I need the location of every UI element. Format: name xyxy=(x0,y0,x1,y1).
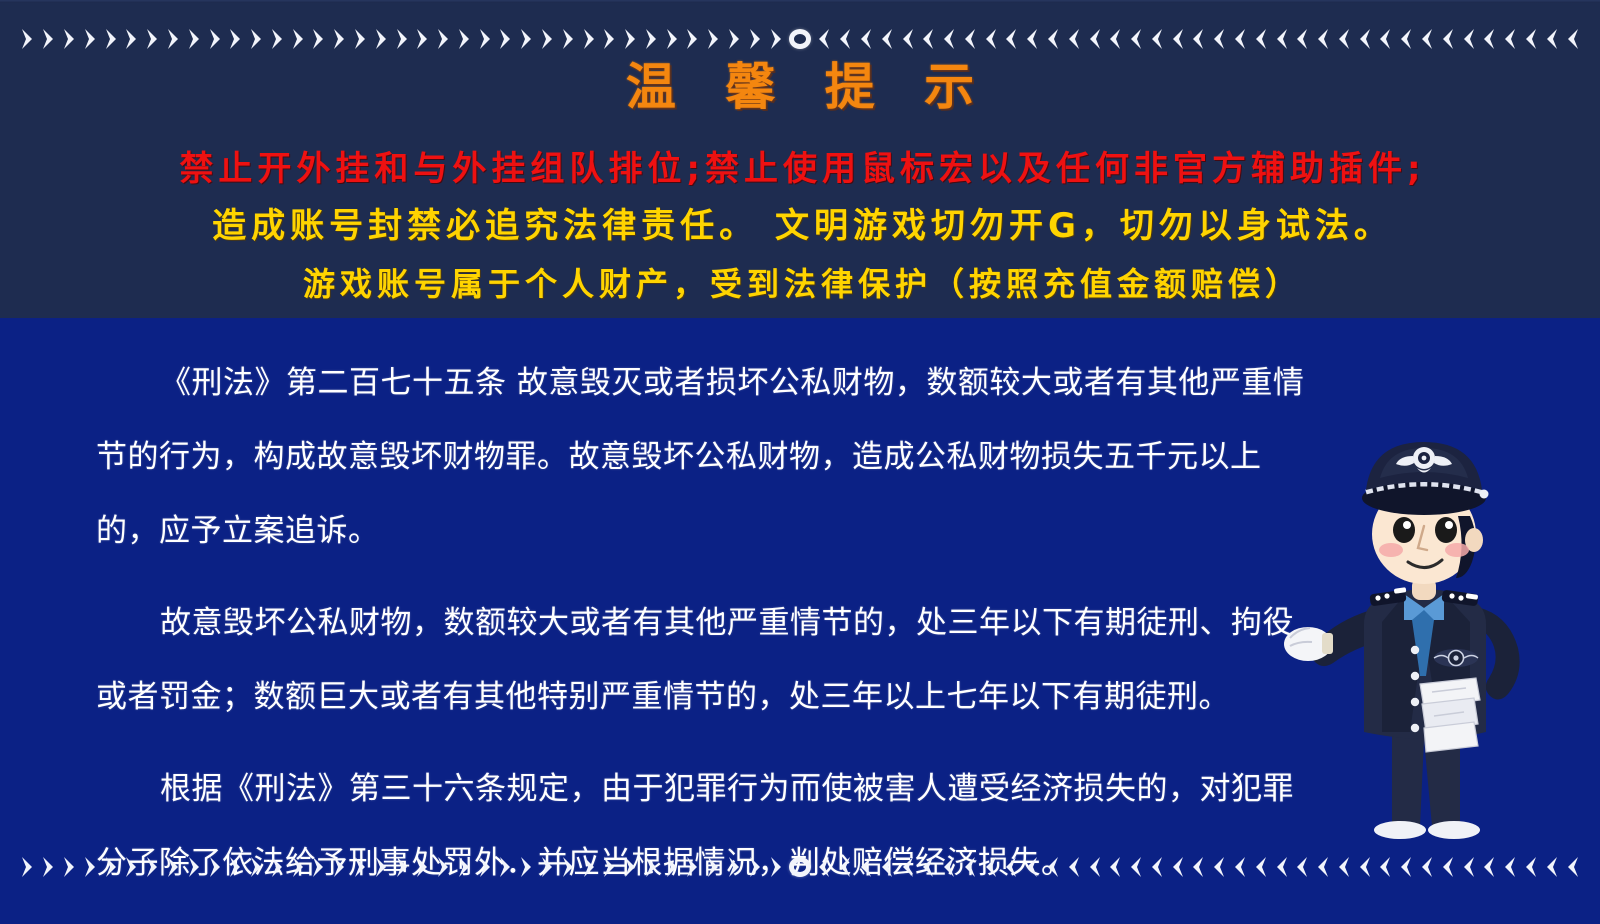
chevron-left-icon xyxy=(1398,28,1412,50)
chevron-left-icon xyxy=(1045,28,1059,50)
chevron-right-icon xyxy=(63,856,77,878)
chevron-left-icon xyxy=(1523,28,1537,50)
chevron-right-icon xyxy=(146,28,160,50)
chevron-right-icon xyxy=(333,28,347,50)
chevron-left-icon xyxy=(1336,28,1350,50)
chevron-group-right xyxy=(813,28,1582,50)
chevron-left-icon xyxy=(1315,28,1329,50)
chevron-right-icon xyxy=(375,28,389,50)
chevron-left-icon xyxy=(1066,28,1080,50)
documents-icon xyxy=(1420,678,1480,752)
chevron-left-icon xyxy=(1170,28,1184,50)
top-hairline xyxy=(0,0,1600,3)
legal-body-band: 《刑法》第二百七十五条 故意毁灭或者损坏公私财物，数额较大或者有其他严重情节的行… xyxy=(0,318,1600,924)
chevron-right-icon xyxy=(479,28,493,50)
chevron-right-icon xyxy=(707,28,721,50)
chevron-left-icon xyxy=(1357,28,1371,50)
chevron-left-icon xyxy=(941,28,955,50)
chevron-right-icon xyxy=(728,28,742,50)
chevron-right-icon xyxy=(229,28,243,50)
chevron-right-icon xyxy=(603,28,617,50)
warning-line-no-cheat-software: 禁止开外挂和与外挂组队排位;禁止使用鼠标宏以及任何非官方辅助插件; xyxy=(0,152,1600,186)
chevron-left-icon xyxy=(1024,28,1038,50)
chevron-right-icon xyxy=(84,28,98,50)
chevron-right-icon xyxy=(437,28,451,50)
chevron-left-icon xyxy=(1003,28,1017,50)
chevron-left-icon xyxy=(1149,28,1163,50)
chevron-right-icon xyxy=(63,28,77,50)
chevron-right-icon xyxy=(396,28,410,50)
chevron-right-icon xyxy=(686,28,700,50)
chevron-right-icon xyxy=(42,28,56,50)
chevron-right-icon xyxy=(271,28,285,50)
chevron-left-icon xyxy=(1481,28,1495,50)
chevron-right-icon xyxy=(749,28,763,50)
chevron-left-icon xyxy=(816,28,830,50)
chevron-left-icon xyxy=(1211,28,1225,50)
chevron-right-icon xyxy=(250,28,264,50)
chevron-divider-top xyxy=(0,22,1600,56)
chevron-right-icon xyxy=(167,28,181,50)
chevron-right-icon xyxy=(354,28,368,50)
chevron-left-icon xyxy=(1274,28,1288,50)
chevron-right-icon xyxy=(21,856,35,878)
header-band: 温 馨 提 示 禁止开外挂和与外挂组队排位;禁止使用鼠标宏以及任何非官方辅助插件… xyxy=(0,0,1600,318)
chevron-left-icon xyxy=(962,28,976,50)
chevron-right-icon xyxy=(645,28,659,50)
chevron-left-icon xyxy=(983,28,997,50)
warning-line-account-protection: 游戏账号属于个人财产，受到法律保护（按照充值金额赔偿） xyxy=(0,268,1600,300)
chevron-group-left xyxy=(18,28,787,50)
chevron-left-icon xyxy=(1565,28,1579,50)
chevron-left-icon xyxy=(1232,28,1246,50)
chevron-right-icon xyxy=(624,28,638,50)
legal-text-block: 《刑法》第二百七十五条 故意毁灭或者损坏公私财物，数额较大或者有其他严重情节的行… xyxy=(96,346,1312,900)
chevron-right-icon xyxy=(21,28,35,50)
chevron-left-icon xyxy=(1440,28,1454,50)
chevron-left-icon xyxy=(1377,28,1391,50)
chevron-right-icon xyxy=(292,28,306,50)
legal-paragraph: 故意毁坏公私财物，数额较大或者有其他严重情节的，处三年以下有期徒刑、拘役或者罚金… xyxy=(96,586,1312,734)
chevron-center-oval-icon xyxy=(789,29,811,49)
chevron-left-icon xyxy=(1502,28,1516,50)
chevron-left-icon xyxy=(1461,28,1475,50)
chevron-left-icon xyxy=(879,28,893,50)
chevron-left-icon xyxy=(837,28,851,50)
chevron-left-icon xyxy=(1128,28,1142,50)
chevron-right-icon xyxy=(666,28,680,50)
chevron-right-icon xyxy=(188,28,202,50)
chevron-left-icon xyxy=(1190,28,1204,50)
chevron-left-icon xyxy=(920,28,934,50)
chevron-right-icon xyxy=(416,28,430,50)
chevron-right-icon xyxy=(583,28,597,50)
chevron-left-icon xyxy=(900,28,914,50)
police-officer-illustration xyxy=(1274,422,1574,862)
chevron-right-icon xyxy=(520,28,534,50)
chevron-right-icon xyxy=(105,28,119,50)
page-title: 温 馨 提 示 xyxy=(0,62,1600,112)
chevron-left-icon xyxy=(1107,28,1121,50)
chest-badge-icon xyxy=(1434,649,1478,667)
chevron-right-icon xyxy=(125,28,139,50)
chevron-left-icon xyxy=(1544,28,1558,50)
legal-paragraph: 根据《刑法》第三十六条规定，由于犯罪行为而使被害人遭受经济损失的，对犯罪分子除了… xyxy=(96,752,1312,900)
chevron-left-icon xyxy=(858,28,872,50)
chevron-right-icon xyxy=(312,28,326,50)
chevron-right-icon xyxy=(209,28,223,50)
chevron-left-icon xyxy=(1294,28,1308,50)
chevron-right-icon xyxy=(458,28,472,50)
chevron-right-icon xyxy=(499,28,513,50)
notice-page: 温 馨 提 示 禁止开外挂和与外挂组队排位;禁止使用鼠标宏以及任何非官方辅助插件… xyxy=(0,0,1600,924)
chevron-right-icon xyxy=(770,28,784,50)
chevron-left-icon xyxy=(1087,28,1101,50)
legal-paragraph: 《刑法》第二百七十五条 故意毁灭或者损坏公私财物，数额较大或者有其他严重情节的行… xyxy=(96,346,1312,568)
chevron-right-icon xyxy=(42,856,56,878)
chevron-left-icon xyxy=(1253,28,1267,50)
chevron-right-icon xyxy=(541,28,555,50)
chevron-left-icon xyxy=(1419,28,1433,50)
chevron-right-icon xyxy=(562,28,576,50)
warning-line-legal-liability: 造成账号封禁必追究法律责任。 文明游戏切勿开G，切勿以身试法。 xyxy=(0,209,1600,243)
